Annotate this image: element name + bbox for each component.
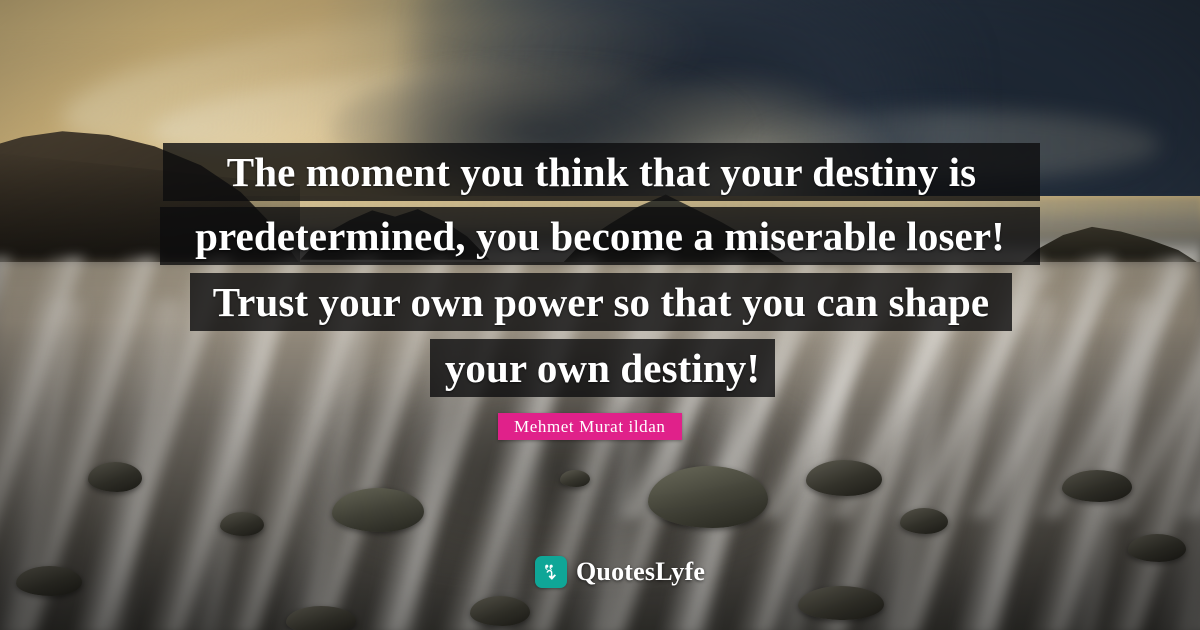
quote-line-3: Trust your own power so that you can sha…	[190, 273, 1012, 331]
quote-line-4: your own destiny!	[430, 339, 775, 397]
quote-line-1: The moment you think that your destiny i…	[163, 143, 1040, 201]
logo-wordmark: QuotesLyfe	[576, 559, 705, 585]
quote-image: The moment you think that your destiny i…	[0, 0, 1200, 630]
quote-block: The moment you think that your destiny i…	[0, 0, 1200, 630]
quote-line-2: predetermined, you become a miserable lo…	[160, 207, 1040, 265]
quoteslyfe-logo[interactable]: QuotesLyfe	[535, 556, 705, 588]
author-badge: Mehmet Murat ildan	[498, 413, 682, 440]
quote-check-icon	[535, 556, 567, 588]
